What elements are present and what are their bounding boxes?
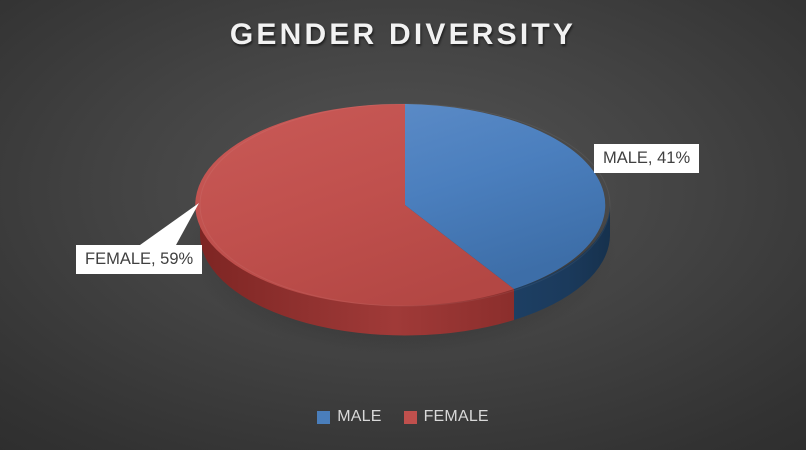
data-label-male: MALE, 41% [594, 144, 699, 173]
chart-canvas: GENDER DIVERSITY [0, 0, 806, 450]
legend-swatch-female-icon [404, 411, 417, 424]
pie-chart-graphic [0, 0, 806, 450]
data-label-female: FEMALE, 59% [76, 245, 202, 274]
legend-label-female: FEMALE [424, 408, 489, 426]
legend-item-male[interactable]: MALE [317, 408, 381, 426]
legend-item-female[interactable]: FEMALE [404, 408, 489, 426]
legend-label-male: MALE [337, 408, 381, 426]
chart-legend: MALE FEMALE [0, 408, 806, 426]
legend-swatch-male-icon [317, 411, 330, 424]
